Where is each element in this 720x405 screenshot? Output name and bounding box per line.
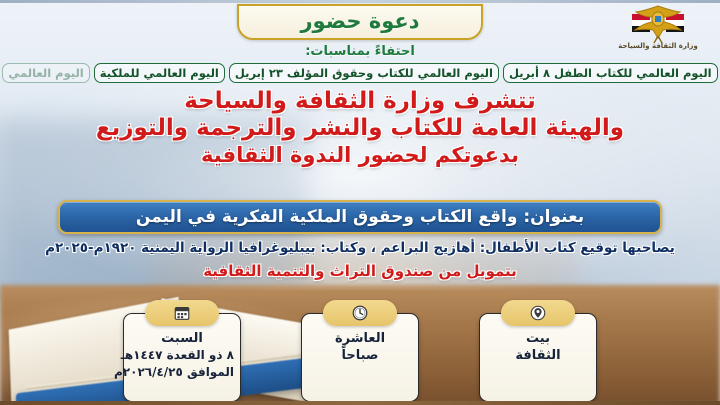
date-card: السبت ٨ ذو القعدة ١٤٤٧هـ الموافق ٢٠٢٦/٤/… [123,300,241,402]
clock-icon [323,300,397,326]
venue-line-2: الثقافة [486,347,590,364]
emblem-caption: وزارة الثقافة والسياحة [610,42,706,50]
occasion-chip: اليوم العالمي للكتاب الطفل ٨ أبريل [503,63,718,83]
location-pin-icon-glyph [529,304,547,322]
time-hour: العاشرة [308,330,412,347]
venue-card: بيت الثقافة [479,300,597,402]
time-card-body: العاشرة صباحاً [301,313,419,402]
seminar-title-bar: بعنوان: واقع الكتاب وحقوق الملكية الفكري… [58,200,662,234]
time-card: العاشرة صباحاً [301,300,419,402]
occasion-chip: اليوم العالمي للملكية [94,63,225,83]
info-cards: السبت ٨ ذو القعدة ١٤٤٧هـ الموافق ٢٠٢٦/٤/… [0,300,720,400]
venue-line-1: بيت [486,330,590,347]
clock-icon-glyph [351,304,369,322]
date-gregorian: الموافق ٢٠٢٦/٤/٢٥م [130,364,234,381]
occasion-chip: اليوم العالمي [2,63,89,83]
date-card-body: السبت ٨ ذو القعدة ١٤٤٧هـ الموافق ٢٠٢٦/٤/… [123,313,241,402]
headline-line-3: بدعوتكم لحضور الندوة الثقافية [0,142,720,169]
header-banner: دعوة حضور [237,4,483,40]
occasions-subhead: احتفاءً بمناسبات: [305,44,415,59]
bottom-edge-strip [0,401,720,405]
date-hijri: ٨ ذو القعدة ١٤٤٧هـ [130,347,234,364]
occasions-strip: اليوم العالمي للكتاب الطفل ٨ أبريل اليوم… [0,62,720,84]
funding-note: بتمويل من صندوق التراث والتنمية الثقافية [0,262,720,280]
headline-block: تتشرف وزارة الثقافة والسياحة والهيئة الع… [0,88,720,169]
location-pin-icon [501,300,575,326]
yemen-eagle-emblem: وزارة الثقافة والسياحة [610,2,706,64]
date-weekday: السبت [130,330,234,347]
occasion-chip: اليوم العالمي للكتاب وحقوق المؤلف ٢٣ إبر… [229,63,499,83]
seminar-title-text: بعنوان: واقع الكتاب وحقوق الملكية الفكري… [136,207,584,227]
calendar-icon-glyph [173,304,191,322]
book-signing-note: يصاحبها توقيع كتاب الأطفال: أهازيج البرا… [0,240,720,256]
calendar-icon [145,300,219,326]
headline-line-1: تتشرف وزارة الثقافة والسياحة [0,88,720,115]
page-title: دعوة حضور [265,9,455,33]
time-period: صباحاً [308,347,412,364]
headline-line-2: والهيئة العامة للكتاب والنشر والترجمة وا… [0,115,720,142]
yemen-eagle-emblem-icon [626,2,690,46]
event-invitation-poster: دعوة حضور وزارة الثقافة والسياحة احتفاءً… [0,0,720,405]
venue-card-body: بيت الثقافة [479,313,597,402]
